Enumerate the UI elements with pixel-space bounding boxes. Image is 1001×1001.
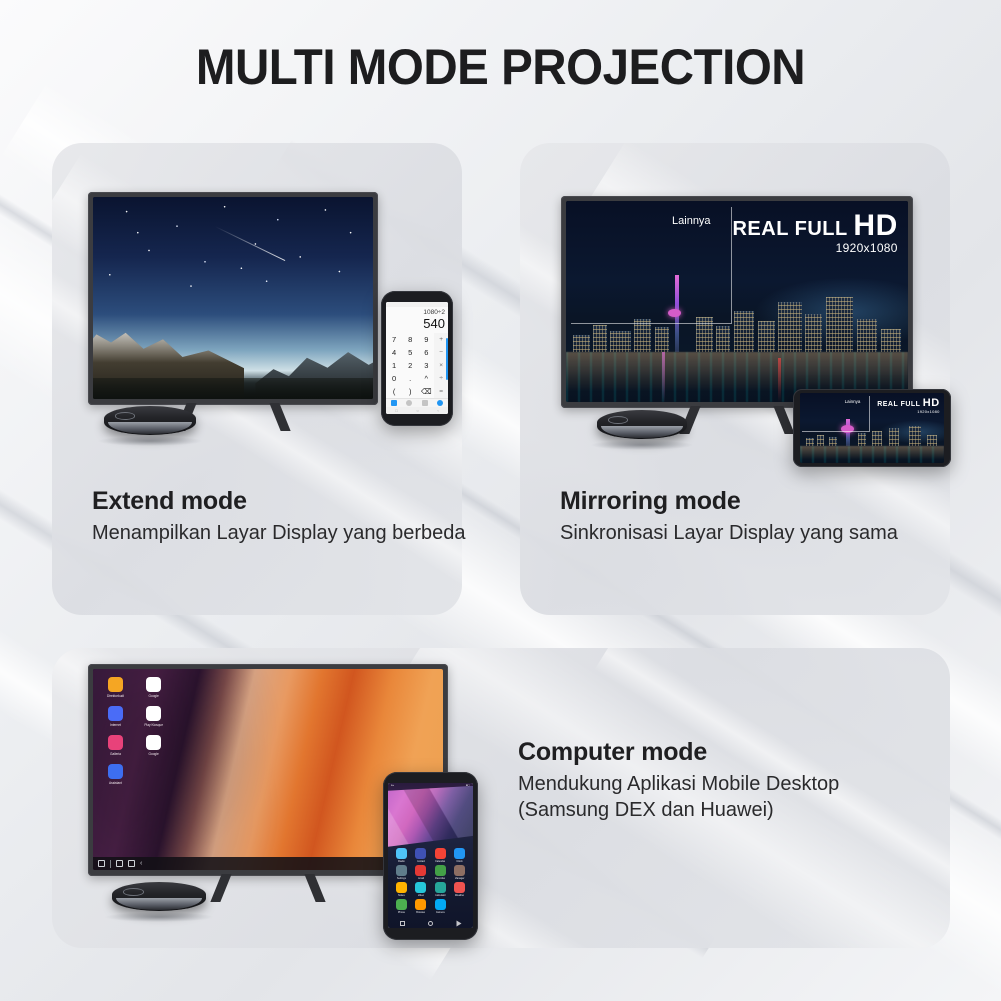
app-icon (415, 865, 426, 876)
tab-unit-converter-icon[interactable] (422, 400, 428, 406)
scene-city-night: Lainnya REAL FULL HD 1920x1080 (566, 201, 908, 402)
phone-screen-mirrored-city: Lainnya REAL FULL HD 1920x1080 (800, 393, 944, 463)
app-label: Camera (436, 911, 445, 914)
phone-computer-mode: ▾● ■▢ Radio Contact Calendar Clock Setti… (383, 772, 478, 940)
mirroring-mode-text: Mirroring mode Sinkronisasi Layar Displa… (560, 487, 950, 546)
hd-line1: REAL FULL (732, 218, 847, 240)
app-icon (435, 865, 446, 876)
building (778, 302, 802, 358)
app-label: Recorder (435, 877, 445, 880)
app-item[interactable]: Video (412, 882, 430, 898)
dongle-led-ring-icon (123, 888, 144, 895)
dongle-silver-band (601, 426, 684, 439)
dongle-led-ring-icon (115, 412, 135, 419)
internet-icon (108, 706, 123, 721)
computer-mode-desc-line1: Mendukung Aplikasi Mobile Desktop (518, 773, 839, 795)
dongle-device-mirroring (597, 404, 687, 446)
calculator-bottom-tabs (386, 398, 448, 407)
app-label: Video (418, 894, 424, 897)
app-icon (415, 848, 426, 859)
app-item[interactable]: Calculator (431, 882, 449, 898)
app-item[interactable]: Camera (431, 899, 449, 915)
android-system-nav: □ ○ ‹ (386, 407, 448, 414)
nav-recents-icon[interactable]: □ (395, 408, 397, 413)
key-6[interactable]: 6 (418, 346, 434, 359)
gallery-icon (108, 735, 123, 750)
app-item[interactable]: Browser (412, 899, 430, 915)
dongle-shadow (590, 440, 694, 450)
tv-extend-mode (88, 192, 378, 405)
home-icon[interactable] (128, 860, 135, 867)
water-reflection-pink (662, 352, 665, 402)
source-label: Lainnya (845, 399, 861, 404)
tree-line (93, 378, 373, 399)
desktop-icon-label: Google (140, 752, 167, 756)
calculator-expression: 1080÷2 (386, 307, 448, 316)
android-system-nav (388, 919, 473, 928)
app-grid: Radio Contact Calendar Clock Settings Gm… (392, 848, 469, 915)
app-label: Weather (455, 894, 464, 897)
app-item[interactable]: Notes (392, 882, 410, 898)
nav-back-icon[interactable]: ‹ (437, 408, 438, 413)
desktop-icon-internet[interactable]: Internet (102, 706, 129, 727)
app-item[interactable]: Phone (392, 899, 410, 915)
app-item[interactable]: Calendar (431, 848, 449, 864)
scene-city-night-mirror: Lainnya REAL FULL HD 1920x1080 (800, 393, 944, 463)
dongle-shadow (97, 436, 204, 446)
desktop-icon-grid: Direktorkudi Google Internet Play Kiosqu… (102, 677, 200, 793)
app-label: Browser (416, 911, 425, 914)
desktop-icon-assistant[interactable]: Assistant (102, 764, 129, 785)
dongle-shadow (104, 912, 213, 922)
dongle-led-ring-icon (608, 416, 628, 423)
dongle-device-extend (104, 400, 196, 442)
key-7[interactable]: 7 (386, 333, 402, 346)
computer-mode-desc-line2: (Samsung DEX dan Huawei) (518, 799, 774, 821)
key-power[interactable]: ^ (418, 372, 434, 385)
desktop-icon-google[interactable]: Google (140, 677, 167, 698)
key-backspace[interactable]: ⌫ (418, 385, 434, 398)
water-reflection-red (778, 358, 781, 402)
phone-status-bar: ▾● ■▢ (388, 783, 473, 788)
dongle-device-computer (112, 876, 206, 918)
tv-stand-leg (773, 406, 794, 434)
hd-resolution: 1920x1080 (877, 410, 939, 414)
building (909, 426, 921, 447)
app-icon (396, 882, 407, 893)
desktop-icon-row: Galleria Google (102, 735, 200, 756)
tv-stand (677, 406, 797, 434)
page-title: MULTI MODE PROJECTION (25, 38, 976, 96)
tv-screen-city-skyline: Lainnya REAL FULL HD 1920x1080 (566, 201, 908, 402)
computer-mode-description: Mendukung Aplikasi Mobile Desktop (Samsu… (518, 771, 938, 824)
phone-mirroring-mode: Lainnya REAL FULL HD 1920x1080 (793, 389, 951, 467)
tv-stand-leg (210, 874, 231, 902)
phone-extend-mode: 1080÷2 540 7 8 9 4 5 6 1 2 3 0 . ^ ( ) (381, 291, 453, 426)
extend-mode-description: Menampilkan Layar Display yang berbeda (92, 520, 472, 546)
key-1[interactable]: 1 (386, 359, 402, 372)
app-label: Calculator (435, 894, 446, 897)
key-4[interactable]: 4 (386, 346, 402, 359)
status-battery-icon: ■▢ (466, 784, 470, 787)
folder-icon (108, 677, 123, 692)
nav-recents-icon[interactable] (400, 921, 405, 926)
app-label: Settings (397, 877, 406, 880)
key-9[interactable]: 9 (418, 333, 434, 346)
app-drawer: ▾● ■▢ Radio Contact Calendar Clock Setti… (388, 783, 473, 928)
key-3[interactable]: 3 (418, 359, 434, 372)
play-store-icon (146, 706, 161, 721)
desktop-icon-row: Internet Play Kiosque (102, 706, 200, 727)
desktop-icon-label: Google (140, 694, 167, 698)
computer-mode-text: Computer mode Mendukung Aplikasi Mobile … (518, 738, 938, 824)
desktop-icon-row: Direktorkudi Google (102, 677, 200, 698)
tab-more-icon[interactable] (437, 400, 443, 406)
back-icon[interactable]: ‹ (140, 860, 147, 867)
hd-line1: REAL FULL (877, 401, 920, 408)
app-item[interactable]: Clock (450, 848, 468, 864)
app-label: Notes (398, 894, 405, 897)
calculator-keypad: 7 8 9 4 5 6 1 2 3 0 . ^ ( ) ⌫ + (386, 333, 448, 398)
building (826, 297, 853, 358)
key-8[interactable]: 8 (402, 333, 418, 346)
key-5[interactable]: 5 (402, 346, 418, 359)
apps-grid-icon[interactable] (98, 860, 105, 867)
assistant-icon (108, 764, 123, 779)
scrollbar[interactable] (446, 338, 448, 381)
tab-calculator-icon[interactable] (391, 400, 397, 406)
desktop-icon-row: Assistant (102, 764, 200, 785)
desktop-icon-label: Galleria (102, 752, 129, 756)
app-label: Radio (398, 860, 405, 863)
dongle-silver-band (108, 422, 193, 435)
key-0[interactable]: 0 (386, 372, 402, 385)
camera-app-icon (435, 899, 446, 910)
water-reflections (800, 446, 944, 464)
hd-resolution: 1920x1080 (732, 242, 897, 254)
extend-mode-title: Extend mode (92, 487, 472, 516)
dongle-silver-band (116, 898, 202, 911)
nav-home-icon[interactable]: ○ (416, 408, 418, 413)
google-icon (146, 677, 161, 692)
key-paren-close[interactable]: ) (402, 385, 418, 398)
app-icon (415, 882, 426, 893)
app-item[interactable]: Radio (392, 848, 410, 864)
app-label: Calendar (435, 860, 445, 863)
app-icon (435, 882, 446, 893)
desktop-icon-label: Play Kiosque (140, 723, 167, 727)
app-item[interactable]: Recorder (431, 865, 449, 881)
tv-screen-starry-night (93, 197, 373, 399)
source-label: Lainnya (672, 215, 711, 227)
nav-home-icon[interactable] (428, 921, 433, 926)
app-icon (454, 848, 465, 859)
app-icon (396, 848, 407, 859)
app-item[interactable]: Contact (412, 848, 430, 864)
desktop-icon-play-kiosque[interactable]: Play Kiosque (140, 706, 167, 727)
tv-stand-leg (269, 403, 290, 431)
tab-history-icon[interactable] (406, 400, 412, 406)
taskbar-divider (110, 860, 111, 868)
calculator-number-keys: 7 8 9 4 5 6 1 2 3 0 . ^ ( ) ⌫ (386, 333, 434, 398)
extend-mode-text: Extend mode Menampilkan Layar Display ya… (92, 487, 472, 546)
app-label: Clock (456, 860, 462, 863)
browser-app-icon (415, 899, 426, 910)
mirroring-mode-title: Mirroring mode (560, 487, 950, 516)
key-2[interactable]: 2 (402, 359, 418, 372)
app-icon (454, 882, 465, 893)
phone-app-icon (396, 899, 407, 910)
mirroring-mode-description: Sinkronisasi Layar Display yang sama (560, 520, 950, 546)
app-item[interactable]: Gmail (412, 865, 430, 881)
app-label: Contact (417, 860, 426, 863)
phone-screen-app-drawer: ▾● ■▢ Radio Contact Calendar Clock Setti… (388, 783, 473, 928)
desktop-icon-label: Assistant (102, 781, 129, 785)
desktop-icon-dineorkudi[interactable]: Direktorkudi (102, 677, 129, 698)
calculator-app: 1080÷2 540 7 8 9 4 5 6 1 2 3 0 . ^ ( ) (386, 302, 448, 414)
hd-badge: HD (923, 397, 940, 409)
desktop-icon-galleria[interactable]: Galleria (102, 735, 129, 756)
app-icon (454, 865, 465, 876)
nav-back-icon[interactable] (456, 921, 461, 927)
status-icons: ▾● (391, 784, 394, 787)
hd-badge-group: REAL FULL HD 1920x1080 (732, 211, 897, 254)
app-label: Gmail (418, 877, 425, 880)
tv-stand-leg (304, 874, 325, 902)
key-decimal[interactable]: . (402, 372, 418, 385)
google-folder-icon (146, 735, 161, 750)
mountain-range (93, 318, 373, 399)
app-icon (435, 848, 446, 859)
desktop-icon-label: Direktorkudi (102, 694, 129, 698)
wallpaper-facets (388, 786, 473, 847)
phone-screen-calculator: 1080÷2 540 7 8 9 4 5 6 1 2 3 0 . ^ ( ) (386, 302, 448, 414)
app-icon (396, 865, 407, 876)
app-label: Phone (398, 911, 405, 914)
recents-icon[interactable] (116, 860, 123, 867)
hd-badge: HD (853, 209, 897, 242)
hd-badge-group: REAL FULL HD 1920x1080 (877, 398, 939, 414)
key-paren-open[interactable]: ( (386, 385, 402, 398)
desktop-icon-google-apps[interactable]: Google (140, 735, 167, 756)
app-item[interactable]: Manager (450, 865, 468, 881)
app-label: Manager (455, 877, 465, 880)
calculator-result: 540 (386, 316, 448, 333)
desktop-icon-label: Internet (102, 723, 129, 727)
tv-stand (208, 874, 328, 902)
computer-mode-title: Computer mode (518, 738, 938, 767)
key-equals[interactable]: = (434, 385, 448, 398)
app-item[interactable]: Weather (450, 882, 468, 898)
app-item[interactable]: Settings (392, 865, 410, 881)
tv-mirroring-mode: Lainnya REAL FULL HD 1920x1080 (561, 196, 913, 408)
